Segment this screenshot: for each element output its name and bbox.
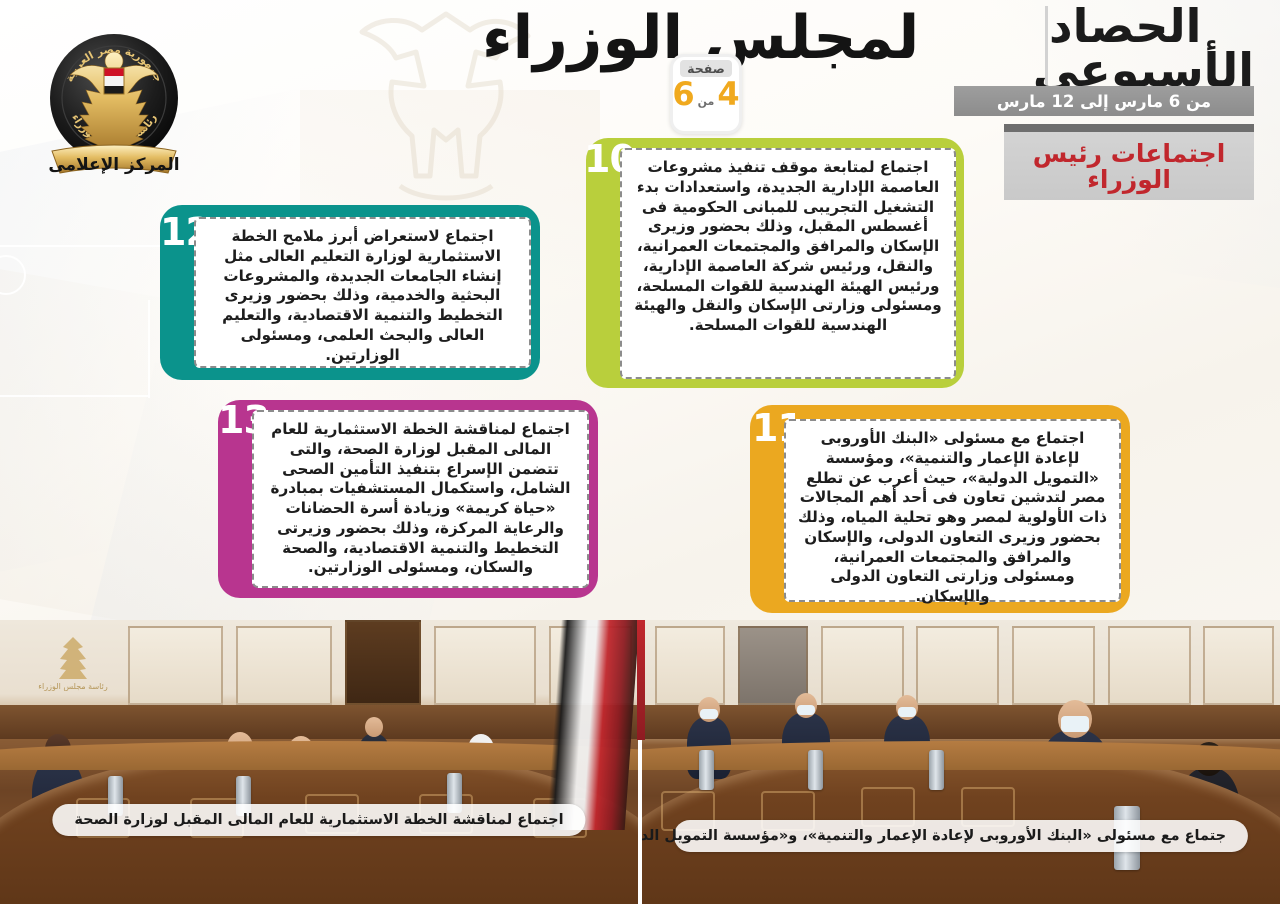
flag-edge-sliver: [637, 620, 645, 740]
section-title-banner: اجتماعات رئيس الوزراء: [1004, 124, 1254, 200]
page-badge-current: 4: [717, 78, 739, 110]
thermos: [808, 750, 823, 790]
table-surface: [0, 741, 638, 769]
wall-panel: [1203, 626, 1273, 706]
page-badge-of: من: [698, 95, 715, 108]
thermos: [929, 750, 944, 790]
wall-panel: [128, 626, 224, 706]
meeting-card-11[interactable]: 11 اجتماع مع مسئولى «البنك الأوروبى لإعا…: [750, 405, 1130, 613]
egypt-flag: [547, 620, 638, 830]
section-title-line-2: الوزراء: [1087, 167, 1171, 194]
meeting-card-13[interactable]: 13 اجتماع لمناقشة الخطة الاستثمارية للعا…: [218, 400, 598, 598]
section-title-line-1: اجتماعات رئيس: [1033, 141, 1226, 168]
meeting-card-13-text: اجتماع لمناقشة الخطة الاستثمارية للعام ا…: [264, 420, 577, 578]
wall-panel: [1108, 626, 1191, 706]
wall-panel: [1012, 626, 1095, 706]
wainscot: [0, 705, 638, 739]
curtain: [738, 626, 808, 706]
date-range-bar: من 6 مارس إلى 12 مارس: [954, 86, 1254, 116]
date-range-text: من 6 مارس إلى 12 مارس: [997, 92, 1211, 111]
background-hairline: [148, 300, 150, 398]
meeting-card-10-body: اجتماع لمتابعة موقف تنفيذ مشروعات العاصم…: [620, 148, 956, 379]
wall-panel: [434, 626, 536, 706]
doorway: [345, 620, 422, 705]
page-title: لمجلس الوزراء: [482, 8, 1022, 68]
wainscot: [642, 705, 1280, 739]
publication-kicker: الحصاد الأسبوعى: [1049, 4, 1254, 92]
meeting-room-scene: [642, 620, 1280, 904]
meeting-card-10-text: اجتماع لمتابعة موقف تنفيذ مشروعات العاصم…: [632, 158, 944, 336]
wall-panel: [916, 626, 999, 706]
photo-strip: رئاسة مجلس الوزراء: [0, 620, 1280, 904]
cabinet-media-center-logo: جمهورية مصر العربية رئاسة مجلس الوزراء ا…: [28, 18, 200, 186]
background-hairline: [0, 395, 150, 397]
wall-emblem-icon: رئاسة مجلس الوزراء: [38, 631, 108, 697]
page-badge-total: 6: [672, 78, 694, 110]
photo-caption-left-text: اجتماع لمناقشة الخطة الاستثمارية للعام ا…: [74, 811, 563, 829]
photo-health-investment-meeting: رئاسة مجلس الوزراء: [0, 620, 638, 904]
thermos: [699, 750, 714, 790]
page-number-badge: صفحة 4 من 6: [670, 54, 742, 134]
photo-caption-left: اجتماع لمناقشة الخطة الاستثمارية للعام ا…: [52, 804, 585, 836]
photo-caption-right: جتماع مع مسئولى «البنك الأوروبى لإعادة ا…: [674, 820, 1248, 852]
photo-caption-right-text: جتماع مع مسئولى «البنك الأوروبى لإعادة ا…: [696, 827, 1226, 845]
meeting-card-12-text: اجتماع لاستعراض أبرز ملامح الخطة الاستثم…: [206, 227, 519, 365]
page-badge-numbers: 4 من 6: [672, 78, 739, 110]
meeting-card-10[interactable]: 10 اجتماع لمتابعة موقف تنفيذ مشروعات الع…: [586, 138, 964, 388]
meeting-card-12[interactable]: 12 اجتماع لاستعراض أبرز ملامح الخطة الاس…: [160, 205, 540, 380]
wall-panel: [236, 626, 332, 706]
meeting-card-12-body: اجتماع لاستعراض أبرز ملامح الخطة الاستثم…: [194, 217, 531, 368]
svg-text:رئاسة مجلس الوزراء: رئاسة مجلس الوزراء: [39, 682, 109, 691]
table-surface: [642, 741, 1280, 769]
meeting-card-11-body: اجتماع مع مسئولى «البنك الأوروبى لإعادة …: [784, 419, 1121, 602]
meeting-card-13-body: اجتماع لمناقشة الخطة الاستثمارية للعام ا…: [252, 410, 589, 588]
wall-panel: [821, 626, 904, 706]
infographic-canvas: جمهورية مصر العربية رئاسة مجلس الوزراء ا…: [0, 0, 1280, 904]
svg-text:المركز الإعلامى: المركز الإعلامى: [48, 155, 179, 175]
meeting-room-scene: رئاسة مجلس الوزراء: [0, 620, 638, 904]
wall-panel: [655, 626, 725, 706]
kicker-line-1: الحصاد: [1049, 4, 1254, 48]
meeting-card-11-text: اجتماع مع مسئولى «البنك الأوروبى لإعادة …: [796, 429, 1109, 607]
photo-ebrd-ifc-meeting: جتماع مع مسئولى «البنك الأوروبى لإعادة ا…: [642, 620, 1280, 904]
